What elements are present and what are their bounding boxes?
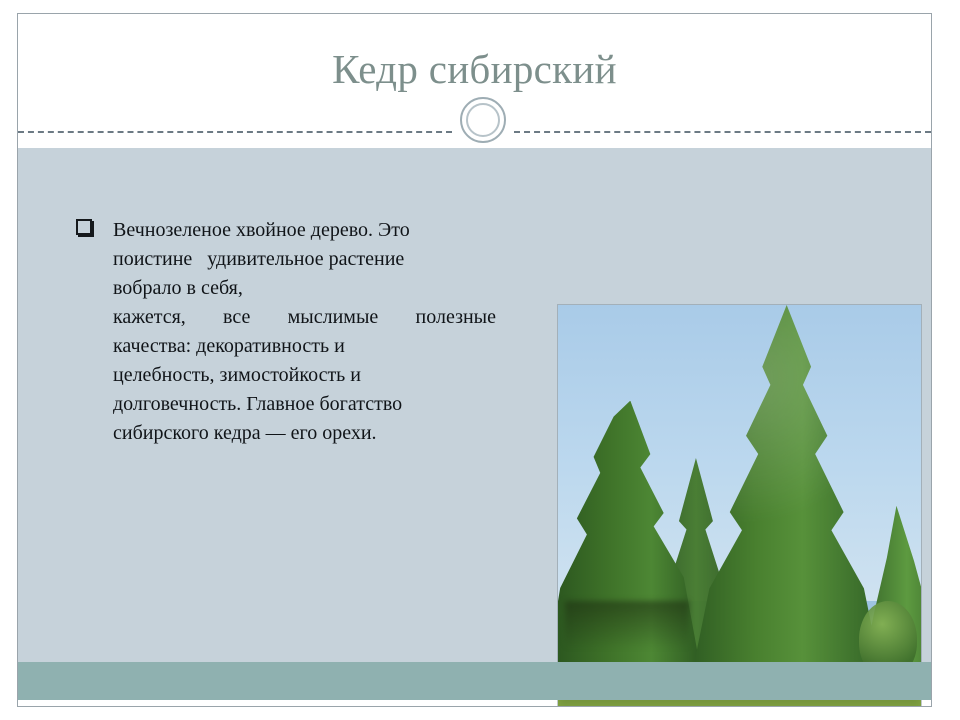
bullet-paragraph: Вечнозеленое хвойное дерево. Это поистин… <box>113 216 496 448</box>
text-line: качества: декоративность и <box>113 332 496 361</box>
text-line: целебность, зимостойкость и <box>113 361 496 390</box>
header-dashed-rule-left <box>18 131 452 133</box>
header-dashed-rule-right <box>514 131 931 133</box>
square-bullet-icon <box>76 219 92 235</box>
photo-trunk-shadow <box>565 601 688 649</box>
cedar-photo: © Taimistoviljelijät ry <box>558 305 921 707</box>
text-line: вобрало в себя, <box>113 274 496 303</box>
slide-bottom-bar <box>18 662 931 700</box>
slide: Кедр сибирский Вечнозеленое хвойное дере… <box>17 13 932 707</box>
ring-ornament-inner-icon <box>466 103 500 137</box>
page-title: Кедр сибирский <box>18 44 931 94</box>
text-line: Вечнозеленое хвойное дерево. Это <box>113 216 496 245</box>
ring-ornament-icon <box>460 97 506 143</box>
text-line: кажется, все мыслимые полезные <box>113 303 496 332</box>
text-line: долговечность. Главное богатство <box>113 390 496 419</box>
slide-body: Вечнозеленое хвойное дерево. Это поистин… <box>18 148 931 662</box>
list-item: Вечнозеленое хвойное дерево. Это поистин… <box>76 216 496 448</box>
text-line: сибирского кедра — его орехи. <box>113 419 496 448</box>
content-text-block: Вечнозеленое хвойное дерево. Это поистин… <box>76 216 496 448</box>
text-line: поистине удивительное растение <box>113 245 496 274</box>
